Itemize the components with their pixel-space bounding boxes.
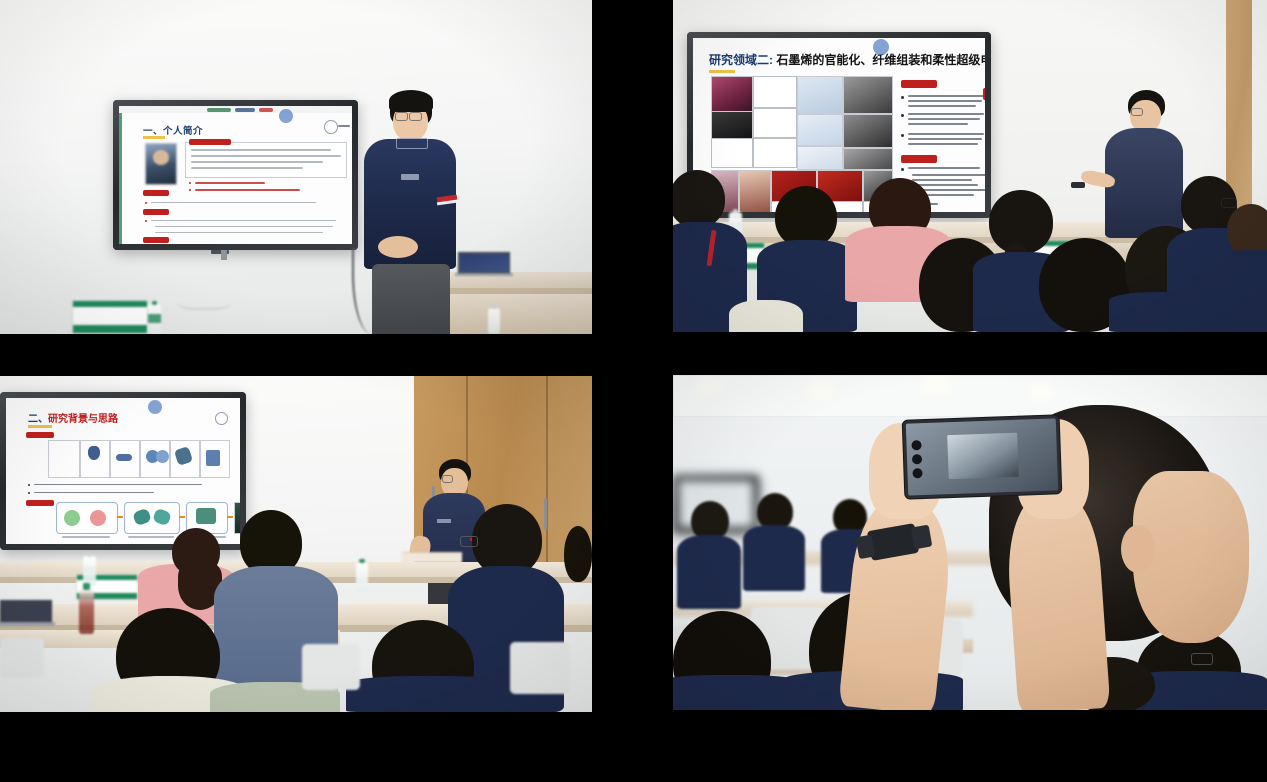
bottle-cap [359, 559, 364, 563]
slide-title-text: 个人简介 [163, 126, 203, 137]
bullet-line [908, 113, 984, 115]
section-tag-projects [143, 237, 169, 243]
bottle-label [148, 314, 161, 323]
bullet-dot [901, 134, 904, 137]
flow-arrow [227, 516, 233, 518]
cv-row [191, 167, 303, 169]
slide-title: 二、研究背景与思路 [28, 410, 118, 425]
audience-torso-cream [729, 300, 803, 332]
speaker-chest-logo [437, 519, 451, 523]
slide-title: 一、个人简介 [143, 123, 203, 137]
slide-background-and-approach: 二、研究背景与思路 [6, 398, 240, 544]
camera-bubble-icon [873, 39, 889, 55]
bullet-line [908, 123, 968, 125]
schematic-key-icon [116, 454, 132, 461]
presenter-collar [396, 138, 428, 149]
schematic [797, 114, 843, 146]
display-screen[interactable]: 二、研究背景与思路 [6, 398, 240, 544]
bottle-cap [733, 209, 739, 213]
highlight-line [195, 182, 265, 184]
bullet-line [908, 143, 978, 145]
audience-head [775, 186, 837, 248]
name-placard [72, 300, 148, 334]
slide-research-area-2: 研究领域二: 石墨烯的官能化、纤维组装和柔性超级电容器 [693, 38, 985, 212]
plot [753, 76, 797, 108]
display-screen[interactable]: 一、个人简介 [119, 106, 352, 244]
presenter-hands [378, 236, 418, 258]
title-underline [709, 70, 735, 73]
display-screen[interactable]: 研究领域二: 石墨烯的官能化、纤维组装和柔性超级电容器 [693, 38, 985, 212]
photographer-ear [1121, 525, 1155, 573]
water-bottle-far [356, 562, 368, 592]
photo-collage: 一、个人简介 [0, 0, 1267, 782]
sem-image [843, 148, 893, 170]
water-bottle-tea [79, 588, 94, 634]
wall-display[interactable]: 研究领域二: 石墨烯的官能化、纤维组装和柔性超级电容器 [687, 32, 991, 218]
laptop-screen [460, 254, 508, 271]
plot [753, 108, 797, 138]
slide-title: 研究领域二: 石墨烯的官能化、纤维组装和柔性超级电容器 [709, 51, 985, 68]
sem-image [843, 114, 893, 148]
photo-top-left: 一、个人简介 [0, 0, 592, 334]
placard-bottom-bar [73, 325, 147, 333]
bullet-line [908, 133, 984, 135]
bottle-cap [87, 553, 93, 557]
section-tag-approach [26, 500, 54, 506]
body-line [151, 202, 316, 204]
laptop-base [455, 273, 513, 276]
bullet-dot [189, 189, 191, 191]
water-bottle [83, 556, 96, 586]
watch-band [856, 535, 876, 559]
molecule-icon [64, 510, 80, 526]
presentation-clicker[interactable] [1071, 182, 1085, 188]
chair-back-3 [0, 638, 44, 678]
body-line [155, 226, 333, 228]
slide-toolbar-chip2 [235, 108, 255, 112]
bullet-dot [901, 114, 904, 117]
title-underline [28, 425, 52, 428]
section-tag-publications [901, 155, 937, 163]
bullet-line [908, 105, 976, 107]
flow-result-image [234, 502, 240, 534]
bullet-dot [145, 202, 147, 204]
chair-back-2 [510, 642, 570, 694]
slide-title-number: 二、 [28, 414, 48, 425]
bullet-dot [28, 484, 30, 486]
water-bottle-right [488, 308, 500, 334]
ceiling-light [1033, 387, 1049, 395]
section-tag-achievements [143, 209, 169, 215]
flow-label [128, 536, 174, 538]
paper-stack [402, 552, 462, 563]
pub-line [908, 167, 980, 169]
bottle-cap [152, 301, 158, 305]
power-cable [176, 292, 232, 310]
bullet-dot [189, 182, 191, 184]
water-bottle [148, 304, 161, 334]
cv-row [191, 155, 341, 157]
smartphone[interactable] [902, 414, 1063, 499]
schematic-device-icon [206, 450, 220, 466]
door-seam-2 [546, 376, 548, 572]
body-line [34, 492, 154, 494]
presenter-portrait-photo [145, 143, 177, 185]
ceiling-light [927, 381, 945, 390]
slide-toolbar-chip [207, 108, 231, 112]
flow-arrow [117, 516, 123, 518]
molecule-icon-2 [90, 510, 106, 526]
speaker-glasses [442, 475, 453, 483]
bullet-dot [901, 168, 904, 171]
pub-line [912, 174, 985, 176]
body-line [34, 484, 202, 486]
university-logo-icon [215, 412, 228, 425]
wall-display[interactable]: 二、研究背景与思路 [0, 392, 246, 550]
audience-glasses [1191, 653, 1213, 665]
photo-bottom-right [673, 375, 1267, 710]
ceiling-light [701, 383, 717, 391]
presenter-glasses [1131, 108, 1143, 116]
laptop-base [0, 622, 55, 626]
audience-torso-foreground [346, 676, 512, 712]
audience-head [564, 526, 592, 582]
laptop[interactable] [458, 252, 510, 273]
audience-glasses [1221, 198, 1237, 208]
bullet-dot [145, 220, 147, 222]
audience-head [673, 170, 725, 228]
presenter-trousers [372, 264, 450, 334]
laptop-lid [0, 600, 52, 622]
slide-personal-intro: 一、个人简介 [119, 106, 352, 244]
body-line [151, 220, 336, 222]
cv-framebox [185, 142, 347, 178]
audience-glasses [460, 536, 478, 547]
photo-top-right: 研究领域二: 石墨烯的官能化、纤维组装和柔性超级电容器 [673, 0, 1267, 332]
micrograph [711, 111, 753, 139]
slide-title-text: 石墨烯的官能化、纤维组装和柔性超级电容器 [776, 53, 985, 67]
bottle-cap [83, 583, 90, 589]
flow-step-2 [124, 502, 180, 534]
presenter-glasses-right [409, 112, 422, 121]
placard-top-bar [73, 301, 147, 307]
chair-back [302, 644, 360, 690]
placard-name [73, 309, 147, 318]
presenter-polo-shirt [1105, 128, 1183, 238]
cv-row [191, 149, 331, 151]
schematic-sphere-icon-2 [156, 450, 169, 463]
bullet-line [908, 100, 982, 102]
flow-label [62, 536, 110, 538]
slide-title-text: 研究背景与思路 [48, 414, 118, 425]
bullet-line [908, 118, 980, 120]
schematic [797, 146, 843, 170]
bullet-line [908, 95, 984, 97]
camera-bubble-icon [279, 109, 293, 123]
slide-toolbar-chip3 [259, 108, 273, 112]
bullet-line [908, 138, 982, 140]
pub-line [912, 179, 972, 181]
section-tag-research-area [143, 190, 169, 196]
section-tag-background [26, 432, 54, 438]
university-logo-text [338, 125, 350, 127]
bottle-label [83, 566, 96, 575]
bottle-cap [491, 305, 496, 309]
university-logo-icon [324, 120, 338, 134]
audience-torso [743, 525, 805, 591]
bullet-dot [28, 492, 30, 494]
schematic-panel [48, 440, 80, 478]
sem-image [843, 76, 893, 114]
plot [753, 138, 797, 168]
body-line [155, 232, 323, 234]
photo-bottom-left: 二、研究背景与思路 [0, 376, 592, 712]
micrograph [711, 76, 753, 112]
device-icon [196, 508, 216, 524]
camera-bubble-icon [148, 400, 162, 414]
section-tag-results [901, 80, 937, 88]
watch-band-2 [911, 525, 933, 550]
pub-line [912, 184, 978, 186]
audience-head [1227, 204, 1267, 256]
viewfinder-image [947, 433, 1018, 479]
presenter-chest-logo [401, 174, 419, 180]
wall-display[interactable]: 一、个人简介 [113, 100, 358, 250]
slide-right-marker [983, 88, 985, 100]
highlight-line [195, 189, 300, 191]
audience-torso [1215, 250, 1267, 332]
bullet-dot [901, 96, 904, 99]
plot [711, 138, 753, 168]
schematic-shield-icon [88, 446, 100, 460]
slide-title-number: 研究领域二: [709, 53, 773, 67]
ceiling-panel [673, 375, 1267, 417]
presenter-glasses [395, 112, 408, 121]
flow-arrow [179, 516, 185, 518]
ceiling-light [811, 385, 829, 394]
device-photo [739, 170, 771, 212]
laptop-on-desk[interactable] [0, 600, 52, 622]
cv-row [191, 161, 323, 163]
schematic [797, 76, 843, 114]
section-tag-experience [189, 139, 231, 145]
door-handle-2[interactable] [544, 498, 547, 530]
audience-torso [677, 535, 741, 609]
presenter-hair-top [389, 90, 433, 112]
title-underline [143, 136, 165, 139]
